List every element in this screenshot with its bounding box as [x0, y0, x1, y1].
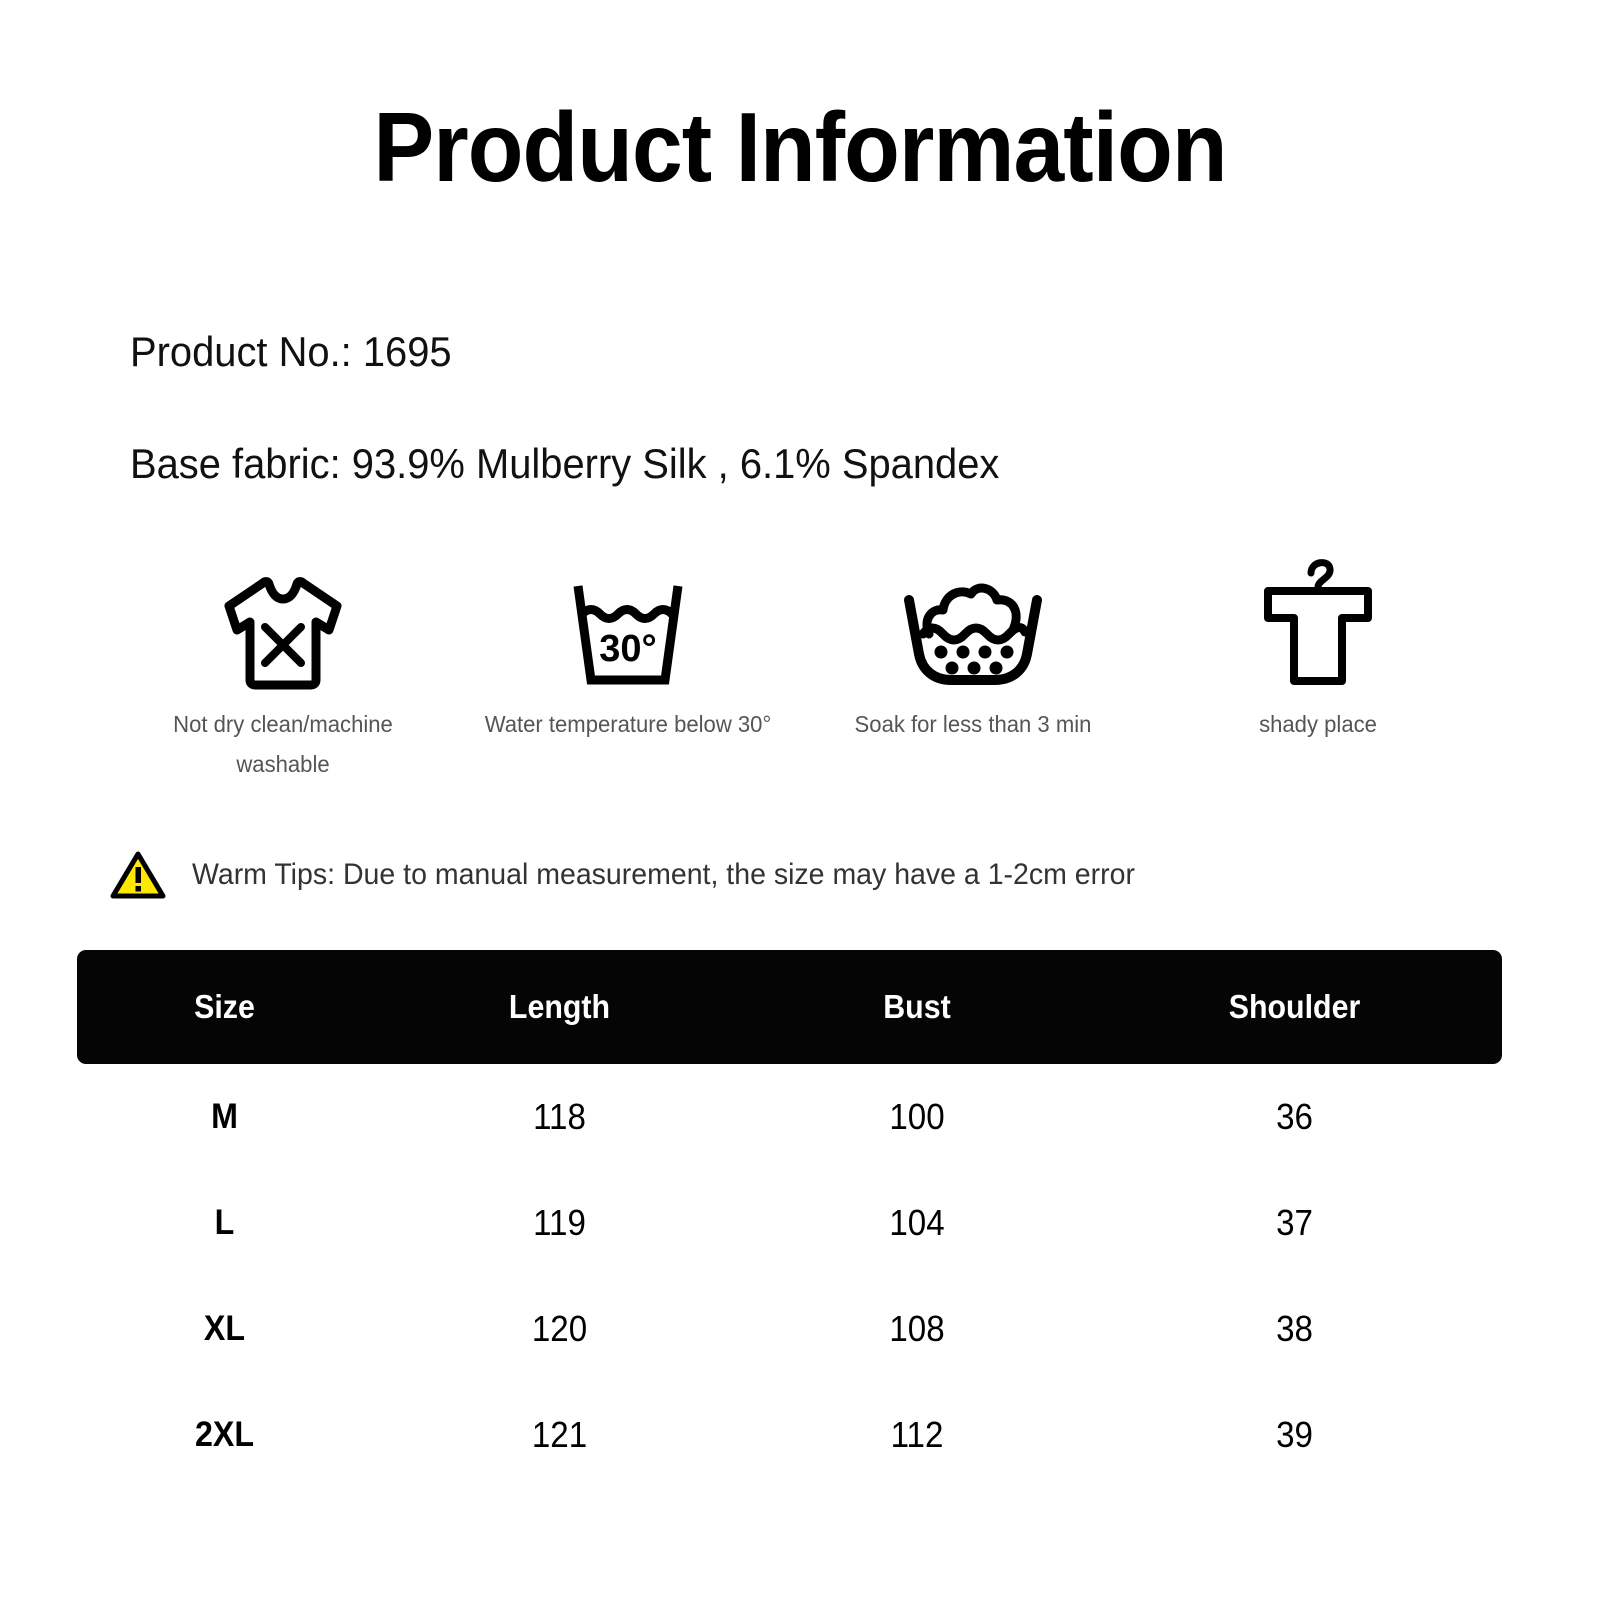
- cell-bust: 100: [761, 1096, 1074, 1138]
- tshirt-no-wash-icon: [221, 560, 345, 690]
- cell-shoulder: 39: [1104, 1414, 1486, 1456]
- care-label-water-temperature: Water temperature below 30°: [484, 704, 772, 744]
- table-header-row: Size Length Bust Shoulder: [77, 950, 1502, 1064]
- cell-length: 121: [387, 1414, 732, 1456]
- svg-text:30°: 30°: [599, 628, 656, 670]
- cell-size: M: [89, 1097, 360, 1137]
- table-row: M 118 100 36: [77, 1064, 1502, 1170]
- care-label-soak: Soak for less than 3 min: [829, 704, 1117, 744]
- cell-size: XL: [89, 1309, 360, 1349]
- cell-length: 119: [387, 1202, 732, 1244]
- cell-bust: 112: [761, 1414, 1074, 1456]
- column-header-length: Length: [387, 988, 732, 1026]
- wash-tub-temperature-icon: 30°: [564, 560, 692, 690]
- column-header-shoulder: Shoulder: [1104, 988, 1486, 1026]
- page-title: Product Information: [56, 96, 1544, 199]
- warm-tips-row: Warm Tips: Due to manual measurement, th…: [110, 850, 1185, 900]
- cell-bust: 104: [761, 1202, 1074, 1244]
- cell-length: 120: [387, 1308, 732, 1350]
- table-body: M 118 100 36 L 119 104 37 XL 120 108 38 …: [77, 1064, 1502, 1488]
- cell-shoulder: 38: [1104, 1308, 1486, 1350]
- cell-size: 2XL: [89, 1415, 360, 1455]
- warning-triangle-icon: [110, 850, 166, 900]
- care-instructions-row: Not dry clean/machine washable 30° Water…: [110, 560, 1490, 785]
- product-information-page: Product Information Product No.: 1695 Ba…: [0, 0, 1600, 1600]
- care-label-shady-place: shady place: [1174, 704, 1462, 744]
- care-label-no-dry-clean: Not dry clean/machine washable: [139, 704, 427, 785]
- column-header-bust: Bust: [761, 988, 1074, 1026]
- care-item-water-temperature: 30° Water temperature below 30°: [455, 560, 800, 744]
- cell-size: L: [89, 1203, 360, 1243]
- table-row: L 119 104 37: [77, 1170, 1502, 1276]
- cell-shoulder: 36: [1104, 1096, 1486, 1138]
- hanger-shirt-icon: [1256, 560, 1380, 690]
- cell-shoulder: 37: [1104, 1202, 1486, 1244]
- warm-tips-text: Warm Tips: Due to manual measurement, th…: [192, 858, 1135, 892]
- care-item-no-dry-clean: Not dry clean/machine washable: [110, 560, 455, 785]
- soak-basin-icon: [899, 560, 1047, 690]
- table-row: 2XL 121 112 39: [77, 1382, 1502, 1488]
- size-chart-table: Size Length Bust Shoulder M 118 100 36 L…: [77, 950, 1502, 1488]
- cell-bust: 108: [761, 1308, 1074, 1350]
- column-header-size: Size: [89, 988, 360, 1026]
- base-fabric-line: Base fabric: 93.9% Mulberry Silk , 6.1% …: [130, 440, 999, 488]
- care-item-soak: Soak for less than 3 min: [800, 560, 1145, 744]
- cell-length: 118: [387, 1096, 732, 1138]
- table-row: XL 120 108 38: [77, 1276, 1502, 1382]
- product-number-line: Product No.: 1695: [130, 328, 452, 376]
- care-item-shady-place: shady place: [1145, 560, 1490, 744]
